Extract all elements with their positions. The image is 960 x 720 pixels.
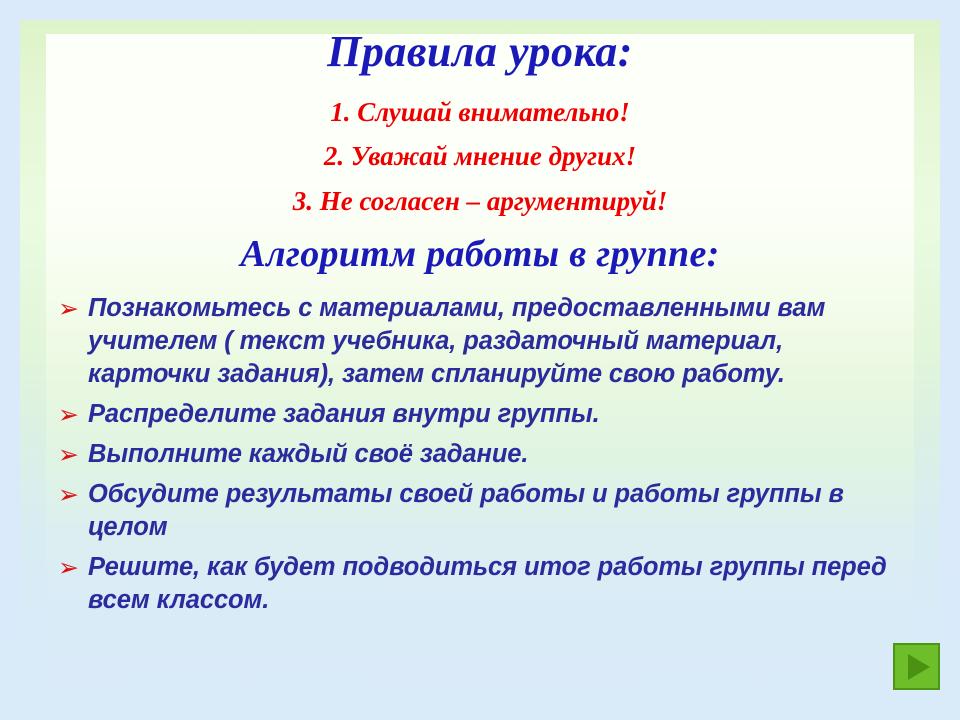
list-item: ➢ Распределите задания внутри группы. (54, 398, 890, 431)
arrow-bullet-icon: ➢ (54, 292, 88, 325)
play-triangle-icon (908, 654, 930, 680)
section-title-algorithm: Алгоритм работы в группе: (0, 232, 960, 276)
page-title-rules: Правила урока: (0, 26, 960, 77)
list-item: ➢ Решите, как будет подводиться итог раб… (54, 551, 890, 617)
algorithm-list: ➢ Познакомьтесь с материалами, предостав… (54, 292, 890, 624)
list-item-label: Обсудите результаты своей работы и работ… (88, 478, 890, 544)
list-item: ➢ Выполните каждый своё задание. (54, 438, 890, 471)
arrow-bullet-icon: ➢ (54, 551, 88, 584)
rule-item-2: 2. Уважай мнение других! (0, 141, 960, 172)
list-item: ➢ Обсудите результаты своей работы и раб… (54, 478, 890, 544)
presentation-slide: Правила урока: 1. Слушай внимательно! 2.… (0, 0, 960, 720)
rule-item-1: 1. Слушай внимательно! (0, 97, 960, 128)
list-item-label: Решите, как будет подводиться итог работ… (88, 551, 890, 617)
list-item-label: Выполните каждый своё задание. (88, 438, 890, 471)
arrow-bullet-icon: ➢ (54, 478, 88, 511)
list-item-label: Распределите задания внутри группы. (88, 398, 890, 431)
list-item-label: Познакомьтесь с материалами, предоставле… (88, 292, 890, 391)
slide-content: Правила урока: 1. Слушай внимательно! 2.… (0, 0, 960, 720)
arrow-bullet-icon: ➢ (54, 398, 88, 431)
next-slide-button[interactable] (893, 643, 940, 690)
list-item: ➢ Познакомьтесь с материалами, предостав… (54, 292, 890, 391)
arrow-bullet-icon: ➢ (54, 438, 88, 471)
rule-item-3: 3. Не согласен – аргументируй! (0, 186, 960, 217)
